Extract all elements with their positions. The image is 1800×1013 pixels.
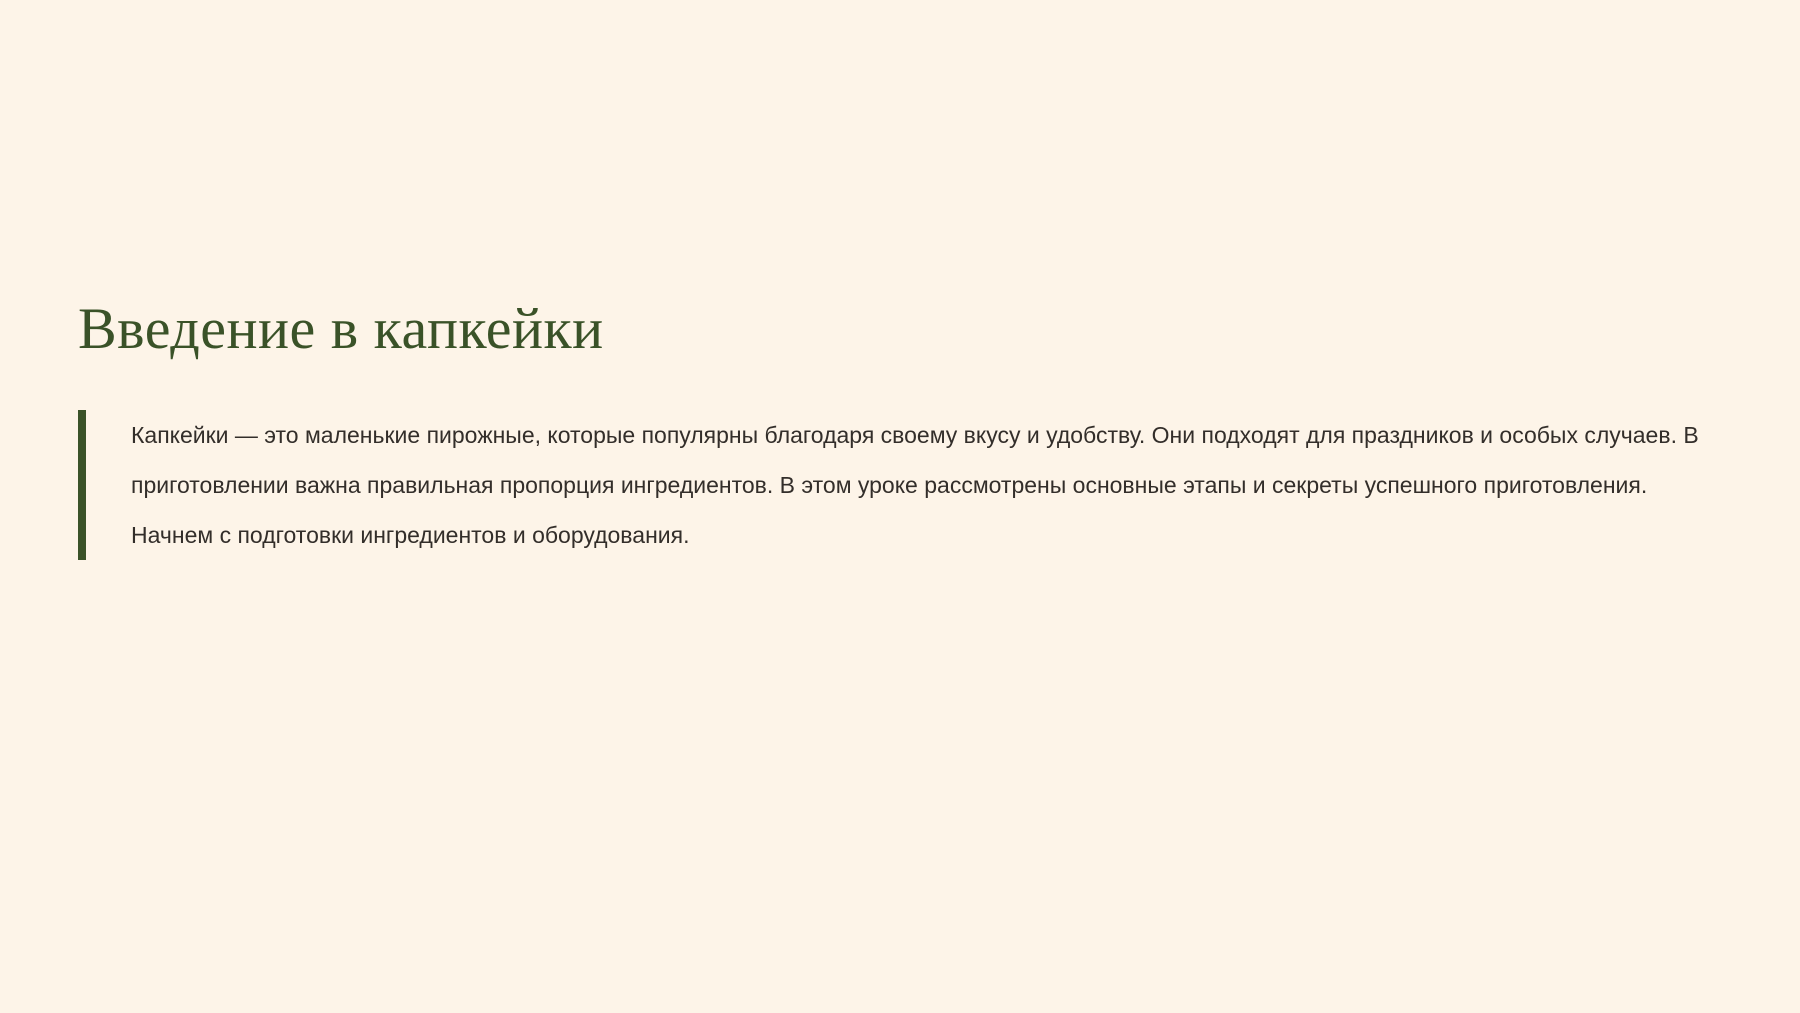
slide-root: Введение в капкейки Капкейки — это мален… <box>0 0 1800 1013</box>
callout-body-text: Капкейки — это маленькие пирожные, котор… <box>131 410 1728 560</box>
callout-block: Капкейки — это маленькие пирожные, котор… <box>78 410 1728 560</box>
page-title: Введение в капкейки <box>78 300 1728 358</box>
slide-content: Введение в капкейки Капкейки — это мален… <box>78 300 1728 560</box>
